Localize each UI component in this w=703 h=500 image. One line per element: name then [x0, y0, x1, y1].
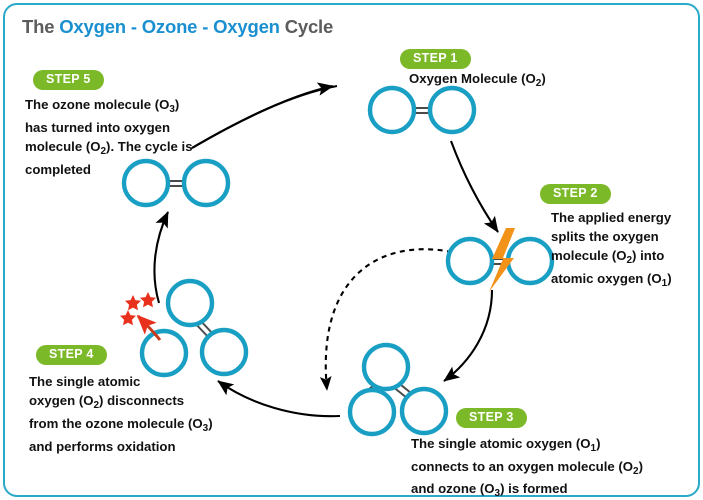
- badge-step-4: STEP 4: [36, 345, 107, 365]
- arrow-step2-to-step3: [444, 290, 492, 381]
- desc-line: splits the oxygen: [551, 227, 672, 246]
- desc-line: The applied energy: [551, 208, 672, 227]
- desc-line: from the ozone molecule (O3): [29, 414, 213, 437]
- desc-line: and performs oxidation: [29, 437, 213, 456]
- description-step-5: The ozone molecule (O3) has turned into …: [25, 95, 193, 179]
- ozone-molecule-step3: [350, 345, 446, 434]
- oxygen-molecule-splitting-step2: [448, 228, 552, 292]
- desc-line: The single atomic: [29, 372, 213, 391]
- caption-step-1: Oxygen Molecule (O2): [409, 71, 546, 89]
- arrow-step4-to-step5: [154, 212, 168, 303]
- desc-line: and ozone (O3) is formed: [411, 479, 643, 500]
- desc-line: molecule (O2) into: [551, 246, 672, 269]
- description-step-4: The single atomic oxygen (O2) disconnect…: [29, 372, 213, 456]
- atom-circle: [142, 331, 186, 375]
- arrow-step3-to-step4: [218, 381, 340, 416]
- ozone-cycle-diagram: The Oxygen - Ozone - Oxygen Cycle: [0, 0, 703, 500]
- desc-line: oxygen (O2) disconnects: [29, 391, 213, 414]
- arrow-step5-to-step1-line: [192, 86, 333, 148]
- spark-icon: [120, 292, 156, 325]
- desc-line: connects to an oxygen molecule (O2): [411, 457, 643, 480]
- desc-line: The ozone molecule (O3): [25, 95, 193, 118]
- badge-step-3: STEP 3: [456, 408, 527, 428]
- badge-step-5: STEP 5: [33, 70, 104, 90]
- arrow-step1-to-step2: [451, 141, 498, 232]
- description-step-3: The single atomic oxygen (O1) connects t…: [411, 434, 643, 500]
- atom-circle: [364, 345, 408, 389]
- badge-step-2: STEP 2: [540, 184, 611, 204]
- atom-circle: [430, 88, 474, 132]
- atom-circle: [168, 281, 212, 325]
- arrow-step5-to-step1: [192, 86, 337, 148]
- oxygen-molecule-step1: [370, 88, 474, 132]
- atom-circle: [448, 239, 492, 283]
- description-step-2: The applied energy splits the oxygen mol…: [551, 208, 672, 292]
- atom-circle: [508, 239, 552, 283]
- desc-line: has turned into oxygen: [25, 118, 193, 137]
- desc-line: atomic oxygen (O1): [551, 269, 672, 292]
- atom-circle: [370, 88, 414, 132]
- desc-line: completed: [25, 160, 193, 179]
- desc-line: molecule (O2). The cycle is: [25, 137, 193, 160]
- desc-line: The single atomic oxygen (O1): [411, 434, 643, 457]
- atom-circle: [402, 389, 446, 433]
- ozone-molecule-dissociating-step4: [120, 281, 246, 375]
- atom-circle: [350, 390, 394, 434]
- badge-step-1: STEP 1: [400, 49, 471, 69]
- atom-circle: [202, 330, 246, 374]
